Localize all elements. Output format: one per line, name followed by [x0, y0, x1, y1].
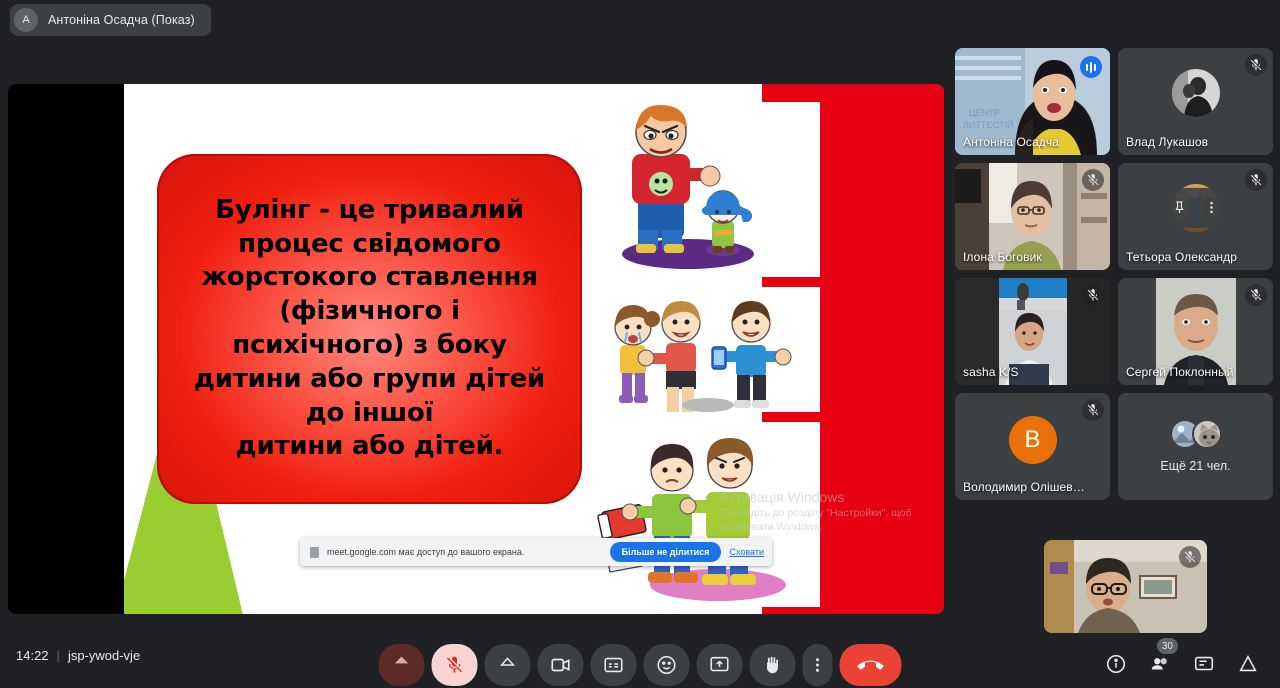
participant-name: sasha K/S: [963, 365, 1019, 379]
screen-share-notification-bar[interactable]: meet.google.com має доступ до вашого екр…: [300, 538, 772, 566]
participant-row: ЦЕНТР ЛИТТЄСТІЙ Антоніна Осадча: [955, 48, 1273, 155]
google-meet-window: A Антоніна Осадча (Показ) Булінг - це тр…: [0, 0, 1280, 688]
presenter-banner[interactable]: A Антоніна Осадча (Показ): [10, 4, 211, 36]
participant-rail: ЦЕНТР ЛИТТЄСТІЙ Антоніна Осадча: [955, 48, 1273, 508]
end-call-button[interactable]: [840, 644, 902, 686]
participant-name: Сергей Поклонный: [1126, 365, 1234, 379]
people-button[interactable]: 30: [1140, 644, 1180, 684]
mic-off-icon: [1082, 169, 1104, 191]
participant-name: Антоніна Осадча: [963, 135, 1059, 149]
hand-lower-button[interactable]: [379, 644, 425, 686]
more-options-button[interactable]: [803, 644, 833, 686]
avatar: В: [1009, 416, 1057, 464]
microphone-button[interactable]: [432, 644, 478, 686]
meta-separator: |: [57, 648, 60, 663]
screen-share-icon: [310, 547, 319, 558]
meeting-time: 14:22: [16, 648, 49, 663]
participant-tile-antonina[interactable]: ЦЕНТР ЛИТТЄСТІЙ Антоніна Осадча: [955, 48, 1110, 155]
right-controls: 30: [1096, 644, 1268, 684]
participant-row: sasha K/S: [955, 278, 1273, 385]
participant-name: Ілона Боговик: [963, 250, 1042, 264]
definition-text: Булінг - це тривалий процес свідомого жо…: [194, 194, 545, 464]
mic-off-icon: [445, 655, 465, 675]
tile-hover-actions[interactable]: [1161, 188, 1231, 228]
mic-off-icon: [1245, 284, 1267, 306]
more-vert-icon: [809, 656, 827, 674]
boy-pushing-boy-books-illustration: [590, 422, 820, 607]
emoji-smiley-icon: [656, 654, 678, 676]
mic-off-icon: [1245, 169, 1267, 191]
participant-tile-tetora[interactable]: Тетьора Олександр: [1118, 163, 1273, 270]
participant-row: Ілона Боговик: [955, 163, 1273, 270]
more-participants-label: Ещё 21 чел.: [1118, 459, 1273, 473]
chat-button[interactable]: [1184, 644, 1224, 684]
definition-box: Булінг - це тривалий процес свідомого жо…: [157, 154, 582, 504]
participant-name: Влад Лукашов: [1126, 135, 1208, 149]
chat-icon: [1193, 653, 1215, 675]
end-call-icon: [858, 652, 884, 678]
raise-hand-button[interactable]: [750, 644, 796, 686]
participant-name: Володимир Олішев…: [963, 480, 1085, 494]
audio-activity-icon: [1080, 56, 1102, 78]
mic-off-icon: [1082, 399, 1104, 421]
camera-button[interactable]: [538, 644, 584, 686]
children-bullying-group-illustration: [590, 287, 820, 412]
participant-name: Тетьора Олександр: [1126, 250, 1237, 264]
presenter-name-label: Антоніна Осадча (Показ): [48, 13, 195, 27]
participant-tile-ilona[interactable]: Ілона Боговик: [955, 163, 1110, 270]
camera-shape-button[interactable]: [485, 644, 531, 686]
participant-tile-sergey[interactable]: Сергей Поклонный: [1118, 278, 1273, 385]
meeting-code: jsp-ywod-vje: [68, 648, 140, 663]
share-message: meet.google.com має доступ до вашого екр…: [327, 547, 602, 557]
camera-shape-icon: [498, 655, 518, 675]
meeting-details-button[interactable]: [1096, 644, 1136, 684]
bully-pushing-child-illustration: [590, 102, 820, 277]
svg-text:ЦЕНТР: ЦЕНТР: [969, 108, 1000, 118]
people-icon: [1149, 653, 1171, 675]
raise-hand-icon: [762, 654, 784, 676]
more-participants-tile[interactable]: Ещё 21 чел.: [1118, 393, 1273, 500]
video-camera-icon: [550, 654, 572, 676]
participant-tile-volodymyr[interactable]: В Володимир Олішев…: [955, 393, 1110, 500]
captions-button[interactable]: [591, 644, 637, 686]
participant-count-badge: 30: [1157, 638, 1178, 654]
mic-off-icon: [1245, 54, 1267, 76]
hide-share-bar-link[interactable]: Сховати: [729, 547, 764, 557]
stop-sharing-button[interactable]: Більше не ділитися: [610, 542, 722, 562]
call-controls: [379, 644, 902, 686]
present-screen-button[interactable]: [697, 644, 743, 686]
more-vert-icon[interactable]: [1199, 195, 1225, 221]
avatar: [1172, 69, 1220, 117]
activities-icon: [1237, 653, 1259, 675]
activities-button[interactable]: [1228, 644, 1268, 684]
pin-icon[interactable]: [1167, 195, 1193, 221]
reactions-button[interactable]: [644, 644, 690, 686]
svg-text:ЛИТТЄСТІЙ: ЛИТТЄСТІЙ: [963, 119, 1014, 130]
present-screen-icon: [709, 654, 731, 676]
person-avatar-icon: A: [14, 8, 38, 32]
participant-thumbnails-icon: [1170, 419, 1222, 449]
participant-tile-sasha[interactable]: sasha K/S: [955, 278, 1110, 385]
participant-tile-vlad[interactable]: Влад Лукашов: [1118, 48, 1273, 155]
presentation-slide: Булінг - це тривалий процес свідомого жо…: [124, 84, 944, 614]
meeting-info: 14:22 | jsp-ywod-vje: [16, 648, 140, 663]
shared-screen-stage[interactable]: Булінг - це тривалий процес свідомого жо…: [8, 84, 944, 614]
mic-off-icon: [1179, 546, 1201, 568]
info-icon: [1105, 653, 1127, 675]
mic-off-icon: [1082, 284, 1104, 306]
self-preview-tile[interactable]: Наталія Чен: [1044, 540, 1207, 633]
participant-row: В Володимир Олішев…: [955, 393, 1273, 500]
closed-captions-icon: [603, 654, 625, 676]
bottom-control-bar: 14:22 | jsp-ywod-vje: [0, 630, 1280, 688]
